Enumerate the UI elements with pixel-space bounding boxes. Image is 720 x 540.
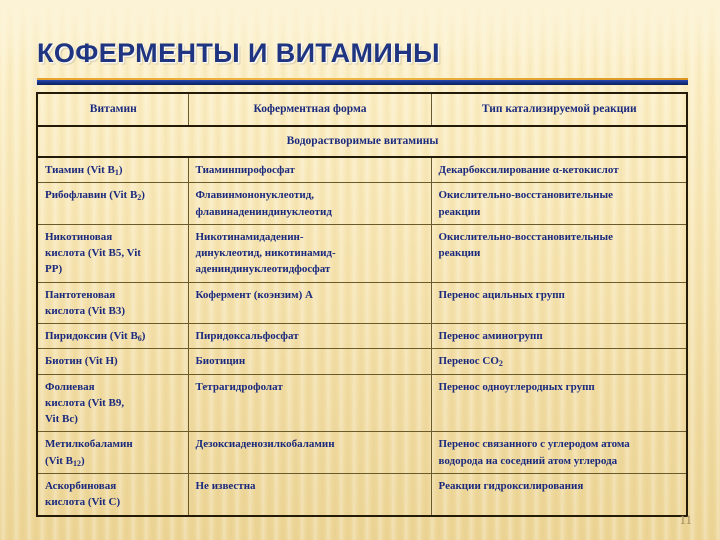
- cell-line: Перенос аминогрупп: [439, 328, 681, 344]
- cell-line: Кофермент (коэнзим) А: [196, 287, 425, 303]
- cell-line: Никотиновая: [45, 229, 182, 245]
- table-row: Тиамин (Vit B1)ТиаминпирофосфатДекарбокс…: [37, 157, 687, 183]
- table-section-row: Водорастворимые витамины: [37, 126, 687, 157]
- cell-reaction-type: Перенос одноуглеродных групп: [431, 374, 687, 432]
- cell-line: Не известна: [196, 478, 425, 494]
- cell-line: реакции: [439, 245, 681, 261]
- cell-line: кислота (Vit B5, Vit: [45, 245, 182, 261]
- cell-line: Окислительно-восстановительные: [439, 187, 681, 203]
- table-row: Пантотеноваякислота (Vit B3)Кофермент (к…: [37, 282, 687, 324]
- page-title: КОФЕРМЕНТЫ И ВИТАМИНЫ: [37, 38, 440, 69]
- cell-line: флавинадениндинуклеотид: [196, 204, 425, 220]
- table-row: Рибофлавин (Vit B2)Флавинмононуклеотид,ф…: [37, 183, 687, 225]
- cell-line: Перенос одноуглеродных групп: [439, 379, 681, 395]
- cell-coenzyme-form: Никотинамидаденин-динуклеотид, никотинам…: [188, 224, 431, 282]
- title-divider: [33, 78, 688, 87]
- slide-canvas: КОФЕРМЕНТЫ И ВИТАМИНЫ Витамин Коферментн…: [0, 0, 720, 540]
- cell-vitamin: Пиридоксин (Vit B6): [37, 324, 188, 349]
- cell-coenzyme-form: Флавинмононуклеотид,флавинадениндинуклео…: [188, 183, 431, 225]
- cell-coenzyme-form: Кофермент (коэнзим) А: [188, 282, 431, 324]
- cell-line: реакции: [439, 204, 681, 220]
- cell-reaction-type: Окислительно-восстановительныереакции: [431, 224, 687, 282]
- cell-line: Флавинмононуклеотид,: [196, 187, 425, 203]
- table-body: Водорастворимые витамины Тиамин (Vit B1)…: [37, 126, 687, 516]
- table-header-row: Витамин Коферментная форма Тип катализир…: [37, 93, 687, 126]
- cell-vitamin: Тиамин (Vit B1): [37, 157, 188, 183]
- cell-coenzyme-form: Дезоксиаденозилкобаламин: [188, 432, 431, 474]
- cell-line: Биотин (Vit H): [45, 353, 182, 369]
- cell-line: кислота (Vit B3): [45, 303, 182, 319]
- table-row: Метилкобаламин(Vit B12)Дезоксиаденозилко…: [37, 432, 687, 474]
- cell-line: кислота (Vit C): [45, 494, 182, 510]
- cell-line: Аскорбиновая: [45, 478, 182, 494]
- cell-line: Перенос ацильных групп: [439, 287, 681, 303]
- cell-line: Vit Bc): [45, 411, 182, 427]
- cell-line: Декарбоксилирование α-кетокислот: [439, 162, 681, 178]
- cell-line: адениндинуклеотидфосфат: [196, 261, 425, 277]
- section-label-water-soluble: Водорастворимые витамины: [37, 126, 687, 157]
- cell-coenzyme-form: Тетрагидрофолат: [188, 374, 431, 432]
- table-row: Пиридоксин (Vit B6)ПиридоксальфосфатПере…: [37, 324, 687, 349]
- table-row: Фолиеваякислота (Vit B9,Vit Bc)Тетрагидр…: [37, 374, 687, 432]
- cell-line: кислота (Vit B9,: [45, 395, 182, 411]
- cell-line: Биотицин: [196, 353, 425, 369]
- cell-reaction-type: Перенос CO2: [431, 349, 687, 374]
- divider-left-cap: [33, 78, 37, 87]
- table-row: Аскорбиноваякислота (Vit C)Не известнаРе…: [37, 474, 687, 516]
- cell-line: Перенос CO2: [439, 353, 681, 369]
- cell-reaction-type: Перенос связанного с углеродом атомаводо…: [431, 432, 687, 474]
- table-header: Витамин Коферментная форма Тип катализир…: [37, 93, 687, 126]
- cell-vitamin: Фолиеваякислота (Vit B9,Vit Bc): [37, 374, 188, 432]
- cell-coenzyme-form: Пиридоксальфосфат: [188, 324, 431, 349]
- cell-reaction-type: Реакции гидроксилирования: [431, 474, 687, 516]
- cell-line: Рибофлавин (Vit B2): [45, 187, 182, 203]
- cell-coenzyme-form: Не известна: [188, 474, 431, 516]
- cell-vitamin: Биотин (Vit H): [37, 349, 188, 374]
- cell-line: водорода на соседний атом углерода: [439, 453, 681, 469]
- cell-line: Перенос связанного с углеродом атома: [439, 436, 681, 452]
- cell-reaction-type: Перенос аминогрупп: [431, 324, 687, 349]
- cell-reaction-type: Окислительно-восстановительныереакции: [431, 183, 687, 225]
- cell-vitamin: Метилкобаламин(Vit B12): [37, 432, 188, 474]
- vitamin-coenzyme-table: Витамин Коферментная форма Тип катализир…: [36, 92, 688, 517]
- cell-line: Фолиевая: [45, 379, 182, 395]
- divider-navy-line: [33, 80, 688, 85]
- table-row: Никотиноваякислота (Vit B5, VitPP)Никоти…: [37, 224, 687, 282]
- cell-line: Пиридоксальфосфат: [196, 328, 425, 344]
- cell-line: Пантотеновая: [45, 287, 182, 303]
- cell-line: Реакции гидроксилирования: [439, 478, 681, 494]
- cell-vitamin: Пантотеноваякислота (Vit B3): [37, 282, 188, 324]
- cell-line: PP): [45, 261, 182, 277]
- cell-vitamin: Аскорбиноваякислота (Vit C): [37, 474, 188, 516]
- cell-line: Никотинамидаденин-: [196, 229, 425, 245]
- cell-line: динуклеотид, никотинамид-: [196, 245, 425, 261]
- cell-line: Дезоксиаденозилкобаламин: [196, 436, 425, 452]
- cell-line: Пиридоксин (Vit B6): [45, 328, 182, 344]
- cell-coenzyme-form: Биотицин: [188, 349, 431, 374]
- cell-line: Окислительно-восстановительные: [439, 229, 681, 245]
- cell-reaction-type: Декарбоксилирование α-кетокислот: [431, 157, 687, 183]
- cell-vitamin: Рибофлавин (Vit B2): [37, 183, 188, 225]
- cell-line: Тиаминпирофосфат: [196, 162, 425, 178]
- cell-coenzyme-form: Тиаминпирофосфат: [188, 157, 431, 183]
- column-header-coenzyme-form: Коферментная форма: [188, 93, 431, 126]
- cell-line: Тетрагидрофолат: [196, 379, 425, 395]
- table-row: Биотин (Vit H)БиотицинПеренос CO2: [37, 349, 687, 374]
- page-number: 11: [679, 512, 692, 528]
- cell-line: (Vit B12): [45, 453, 182, 469]
- cell-line: Метилкобаламин: [45, 436, 182, 452]
- cell-line: Тиамин (Vit B1): [45, 162, 182, 178]
- column-header-vitamin: Витамин: [37, 93, 188, 126]
- cell-reaction-type: Перенос ацильных групп: [431, 282, 687, 324]
- column-header-reaction-type: Тип катализируемой реакции: [431, 93, 687, 126]
- cell-vitamin: Никотиноваякислота (Vit B5, VitPP): [37, 224, 188, 282]
